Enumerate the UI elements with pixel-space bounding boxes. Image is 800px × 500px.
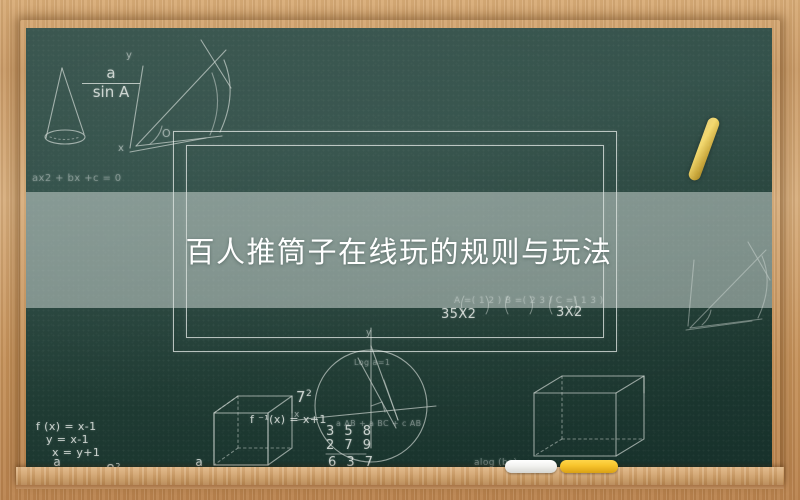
fraction-denominator: sin A [82,85,140,101]
chalk-ledge-lip [16,485,784,489]
screenshot-root: a sin A y x O ax2 + bx +c = 0 f (x) = x-… [0,0,800,500]
function-line-1: f (x) = x-1 [36,420,97,433]
function-line-2: y = x-1 [46,433,89,446]
digit-row-3: 6 3 7 [328,455,376,467]
white-chalk[interactable] [505,460,557,473]
digit-row-2: 2 7 9 [326,438,374,453]
power-seven-base: 7 [296,388,306,406]
fraction-numerator: a [176,456,222,467]
fraction-numerator: a [82,66,140,82]
fraction-a-over-sina-bl1: a sin A [34,456,80,467]
cube-sketch-left [214,396,292,465]
page-title: 百人推筒子在线玩的规则与玩法 [185,229,612,271]
power-seven: 72 [296,388,312,406]
power-seven-exponent: 2 [306,389,312,399]
fraction-numerator: a [34,456,80,467]
axis-label-y-topleft: y [126,50,132,61]
log-a-label: Log a=1 [354,358,390,367]
chalk-ledge [16,467,784,487]
title-band: 百人推筒子在线玩的规则与玩法 [26,192,772,308]
cube-sketch-right [534,376,644,456]
inverse-function: f ⁻¹(x) = x+1 [250,413,327,426]
fraction-a-over-sina-bl2: a sin A [176,456,222,467]
cone-sketch [45,68,85,144]
axis-label-x-topleft: x [118,143,124,154]
angle-label-o: O [162,127,171,140]
quadratic-equation: ax2 + bx +c = 0 [32,173,122,184]
yellow-chalk[interactable] [560,460,618,473]
fraction-a-over-sina-topleft: a sin A [82,66,140,101]
digit-row-1: 3 5 8 [326,424,374,439]
